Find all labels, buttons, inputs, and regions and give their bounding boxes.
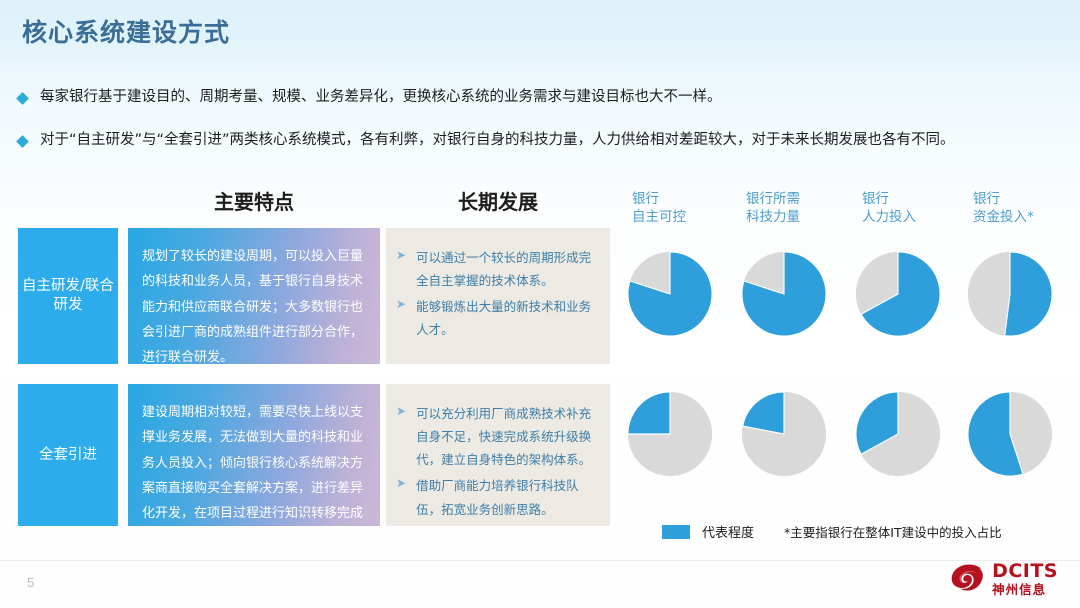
longterm-card-full-import: ➤ 可以充分利用厂商成熟技术补充自身不足，快速完成系统升级换代，建立自身特色的架… xyxy=(386,384,610,526)
list-item: ➤ 借助厂商能力培养银行科技队伍，拓宽业务创新思路。 xyxy=(396,474,598,520)
legend-label: 代表程度 xyxy=(702,522,754,541)
row-label-full-import: 全套引进 xyxy=(18,384,118,526)
page-number: 5 xyxy=(27,575,34,590)
arrow-bullet-icon: ➤ xyxy=(396,477,406,489)
pie-chart xyxy=(626,390,714,478)
legend-swatch xyxy=(662,525,690,539)
list-item-text: 借助厂商能力培养银行科技队伍，拓宽业务创新思路。 xyxy=(416,474,598,520)
pie-column-heading-4: 银行 资金投入* xyxy=(973,190,1034,226)
pie-chart xyxy=(626,250,714,338)
diamond-bullet-icon xyxy=(16,92,29,105)
intro-bullet-1: 每家银行基于建设目的、周期考量、规模、业务差异化，更换核心系统的业务需求与建设目… xyxy=(18,88,722,108)
dcits-swirl-icon xyxy=(949,562,987,596)
pie-column-heading-3: 银行 人力投入 xyxy=(862,190,916,226)
pie-chart xyxy=(740,390,828,478)
list-item: ➤ 能够锻炼出大量的新技术和业务人才。 xyxy=(396,295,598,341)
arrow-bullet-icon: ➤ xyxy=(396,298,406,310)
list-item-text: 可以充分利用厂商成熟技术补充自身不足，快速完成系统升级换代，建立自身特色的架构体… xyxy=(416,402,598,471)
pie-column-heading-1: 银行 自主可控 xyxy=(632,190,686,226)
longterm-card-self-developed: ➤ 可以通过一个较长的周期形成完全自主掌握的技术体系。 ➤ 能够锻炼出大量的新技… xyxy=(386,228,610,364)
pie-chart xyxy=(966,250,1054,338)
diamond-bullet-icon xyxy=(16,135,29,148)
arrow-bullet-icon: ➤ xyxy=(396,405,406,417)
list-item-text: 能够锻炼出大量的新技术和业务人才。 xyxy=(416,295,598,341)
list-item: ➤ 可以通过一个较长的周期形成完全自主掌握的技术体系。 xyxy=(396,246,598,292)
title-bar: 核心系统建设方式 xyxy=(0,0,1080,62)
column-heading-longterm: 长期发展 xyxy=(386,186,610,215)
list-item: ➤ 可以充分利用厂商成熟技术补充自身不足，快速完成系统升级换代，建立自身特色的架… xyxy=(396,402,598,471)
chart-legend: 代表程度 *主要指银行在整体IT建设中的投入占比 xyxy=(662,522,1002,541)
pie-column-heading-2: 银行所需 科技力量 xyxy=(746,190,800,226)
feature-card-full-import: 建设周期相对较短，需要尽快上线以支撑业务发展，无法做到大量的科技和业务人员投入；… xyxy=(128,384,380,526)
intro-bullet-2: 对于“自主研发”与“全套引进”两类核心系统模式，各有利弊，对银行自身的科技力量，… xyxy=(18,131,955,151)
slide-canvas: 核心系统建设方式 每家银行基于建设目的、周期考量、规模、业务差异化，更换核心系统… xyxy=(0,0,1080,608)
footer-divider xyxy=(0,560,1080,561)
list-item-text: 可以通过一个较长的周期形成完全自主掌握的技术体系。 xyxy=(416,246,598,292)
pie-chart xyxy=(740,250,828,338)
page-title: 核心系统建设方式 xyxy=(22,13,230,49)
feature-card-self-developed: 规划了较长的建设周期，可以投入巨量的科技和业务人员，基于银行自身技术能力和供应商… xyxy=(128,228,380,364)
pie-chart xyxy=(966,390,1054,478)
intro-bullet-2-text: 对于“自主研发”与“全套引进”两类核心系统模式，各有利弊，对银行自身的科技力量，… xyxy=(40,131,955,151)
logo-subtitle: 神州信息 xyxy=(992,584,1058,597)
column-heading-features: 主要特点 xyxy=(128,186,380,215)
intro-bullet-1-text: 每家银行基于建设目的、周期考量、规模、业务差异化，更换核心系统的业务需求与建设目… xyxy=(40,88,722,108)
logo-name: DCITS xyxy=(992,562,1058,581)
pie-chart xyxy=(854,390,942,478)
company-logo: DCITS 神州信息 xyxy=(949,562,1058,597)
pie-chart xyxy=(854,250,942,338)
legend-footnote: *主要指银行在整体IT建设中的投入占比 xyxy=(784,522,1002,541)
row-label-self-developed: 自主研发/联合研发 xyxy=(18,228,118,364)
arrow-bullet-icon: ➤ xyxy=(396,249,406,261)
logo-text: DCITS 神州信息 xyxy=(992,562,1058,597)
